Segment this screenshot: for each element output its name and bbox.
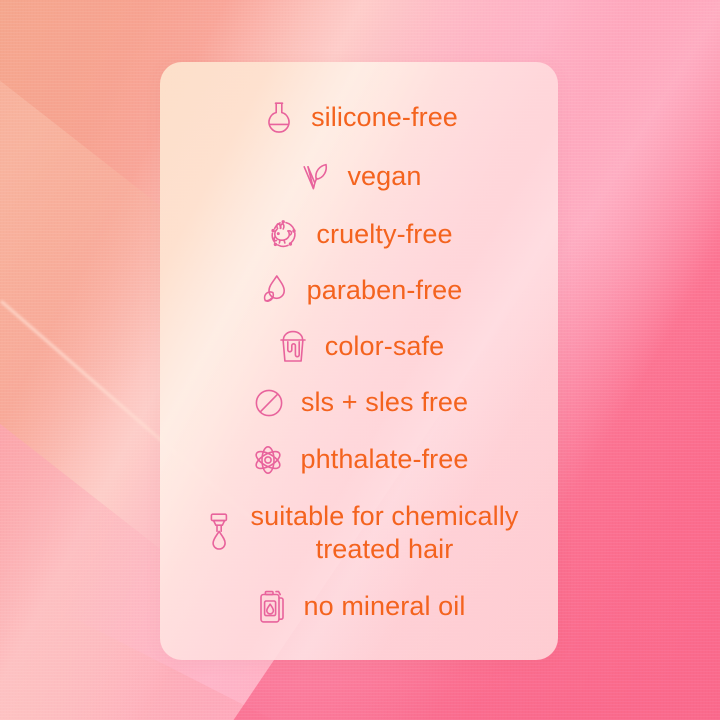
claim-label: cruelty-free — [316, 218, 452, 251]
dropper-icon — [200, 511, 238, 555]
claims-card: silicone-free vegan — [160, 62, 558, 660]
product-claims-graphic: silicone-free vegan — [0, 0, 720, 720]
claim-row: sls + sles free — [160, 375, 558, 431]
leaf-v-icon — [296, 155, 334, 199]
claim-row: suitable for chemically treated hair — [160, 489, 558, 577]
claim-label: suitable for chemically treated hair — [251, 500, 519, 567]
claim-row: no mineral oil — [160, 577, 558, 637]
paint-bucket-icon — [274, 325, 312, 369]
claim-label: sls + sles free — [301, 386, 468, 419]
claim-label: silicone-free — [311, 101, 458, 134]
claim-label: color-safe — [325, 330, 445, 363]
claim-label: vegan — [347, 160, 421, 193]
claim-row: cruelty-free — [160, 206, 558, 263]
claim-label: paraben-free — [307, 274, 463, 307]
rabbit-icon — [265, 213, 303, 257]
claim-label: phthalate-free — [300, 443, 468, 476]
prohibited-icon — [250, 381, 288, 425]
claims-list: silicone-free vegan — [160, 62, 558, 637]
atom-icon — [249, 438, 287, 482]
claim-label: no mineral oil — [304, 590, 466, 623]
claim-row: paraben-free — [160, 263, 558, 319]
claim-row: phthalate-free — [160, 431, 558, 489]
jerrycan-icon — [253, 585, 291, 629]
claim-row: vegan — [160, 148, 558, 206]
droplet-leaf-icon — [256, 269, 294, 313]
claim-row: color-safe — [160, 319, 558, 375]
flask-icon — [260, 96, 298, 140]
claim-row: silicone-free — [160, 88, 558, 148]
